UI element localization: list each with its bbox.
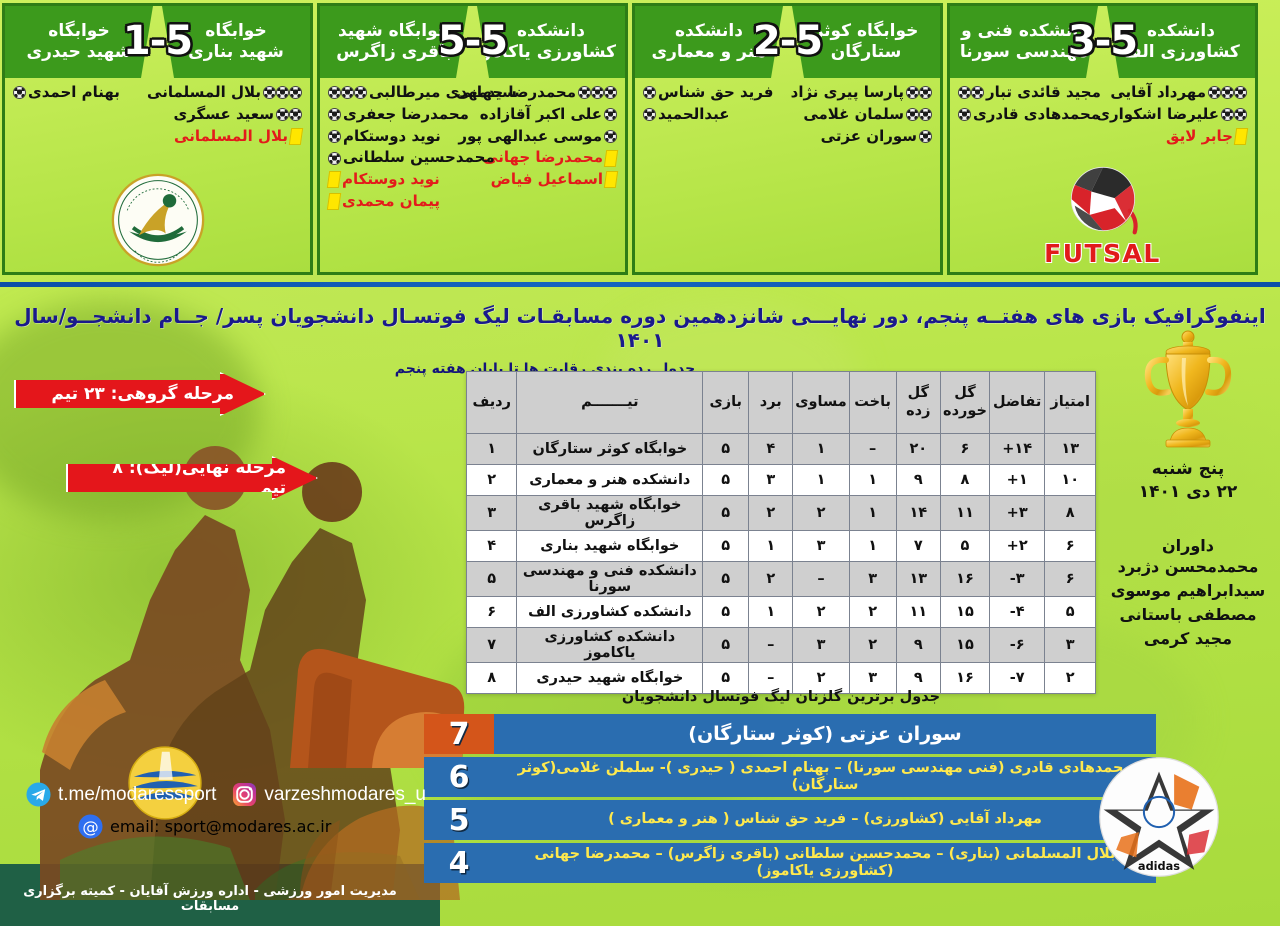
cell-points: ۸ — [1045, 496, 1096, 531]
cell-goals-for: ۱۳ — [896, 562, 940, 597]
card-entry: اسماعیل فیاض — [475, 169, 617, 191]
scorer-entry: موسی عبدالهی پور — [475, 126, 617, 148]
card-logo-area: FUTSAL — [950, 159, 1255, 268]
cell-team: دانشکده فنی و مهندسی سورنا — [517, 562, 703, 597]
cell-goals-against: ۸ — [941, 465, 990, 496]
score-badge: 3-5 — [1057, 10, 1149, 72]
instagram-contact[interactable]: varzeshmodares_u — [232, 782, 426, 807]
cell-rank: ۶ — [467, 597, 517, 628]
scorer-entry: علیرضا اشکواری — [1105, 104, 1247, 126]
away-scorers-list: فرید حق شناس عبدالحمید — [643, 82, 785, 126]
at-email-icon: @ — [78, 814, 103, 839]
soccer-ball-icon — [958, 86, 971, 99]
soccer-ball-icon — [1221, 108, 1234, 121]
cell-goals-for: ۹ — [896, 628, 940, 663]
scorer-name: سعید عسگری — [173, 104, 274, 126]
cell-played: ۵ — [703, 597, 749, 628]
scorer-entry: محمدهادی قادری — [958, 104, 1100, 126]
referees-title: داوران — [1096, 536, 1280, 555]
soccer-ball-icon — [1234, 86, 1247, 99]
scorer-goal-count: 4 — [424, 843, 494, 883]
cell-points: ۱۳ — [1045, 434, 1096, 465]
futsal-logo: FUTSAL — [1044, 159, 1161, 268]
instagram-handle: varzeshmodares_u — [264, 784, 426, 806]
scorer-name: محمدرضا جعفری — [343, 104, 469, 126]
match-card[interactable]: دانشکده کشاورزی الف 3-5 دانشکده فنی و مه… — [947, 3, 1258, 275]
cell-draws: ۳ — [793, 628, 849, 663]
scorer-entry: عبدالحمید — [643, 104, 785, 126]
svg-text:@: @ — [82, 817, 98, 836]
goal-balls — [643, 86, 656, 99]
date-full: ۲۲ دی ۱۴۰۱ — [1096, 481, 1280, 504]
cell-losses: ۱ — [849, 496, 896, 531]
goal-balls — [906, 86, 932, 99]
scorer-name: سیدمهدی میرطالبی — [369, 82, 517, 104]
footer-credit: مدیریت امور ورزشی - اداره ورزش آقایان - … — [0, 884, 420, 914]
table-row[interactable]: ۶ ۳- ۱۶ ۱۳ ۳ – ۲ ۵ دانشکده فنی و مهندسی … — [467, 562, 1096, 597]
cell-rank: ۲ — [467, 465, 517, 496]
cell-wins: ۳ — [749, 465, 793, 496]
cell-team: دانشکده کشاورزی یاکاموز — [517, 628, 703, 663]
match-body: بلال المسلمانی سعید عسگری بلال المسلمانی… — [5, 78, 310, 274]
svg-text:adidas: adidas — [1138, 859, 1180, 873]
scorer-name: سلمان غلامی — [803, 104, 904, 126]
soccer-ball-icon — [906, 86, 919, 99]
soccer-ball-icon — [13, 86, 26, 99]
goal-balls — [958, 108, 971, 121]
card-entry: پیمان محمدی — [328, 191, 470, 213]
cell-goal-diff: ۱۴+ — [989, 434, 1044, 465]
table-row[interactable]: ۵ ۴- ۱۵ ۱۱ ۲ ۲ ۱ ۵ دانشکده کشاورزی الف ۶ — [467, 597, 1096, 628]
scorer-name: محمدهادی قادری — [973, 104, 1100, 126]
scorer-name: موسی عبدالهی پور — [458, 126, 602, 148]
soccer-ball-icon — [263, 86, 276, 99]
match-body: مهرداد آقایی علیرضا اشکواری جابر لایق مج… — [950, 78, 1255, 274]
cell-team: خوابگاه شهید باقری زاگرس — [517, 496, 703, 531]
soccer-ball-icon — [919, 86, 932, 99]
away-scorers-list: مجید قائدی تبار محمدهادی قادری — [958, 82, 1100, 126]
soccer-ball-icon — [328, 86, 341, 99]
yellow-card-icon-wrap — [605, 150, 617, 167]
page-title: اینفوگرافیک بازی های هفتــه پنجم، دور نه… — [0, 304, 1280, 352]
soccer-ball-icon — [958, 108, 971, 121]
scorer-entry: مهرداد آقایی — [1105, 82, 1247, 104]
scorer-name: بهنام احمدی — [28, 82, 120, 104]
stage-banner-label: مرحله گروهی: ۲۳ تیم — [51, 384, 234, 404]
card-logo-area — [5, 172, 310, 268]
cell-goals-for: ۲۰ — [896, 434, 940, 465]
standings-table[interactable]: امتیاز تفاضل گل خورده گل زده باخت مساوی … — [466, 371, 1096, 694]
yellow-card-icon — [604, 171, 618, 188]
scorer-goal-count: 7 — [424, 714, 494, 754]
scorer-goal-count: 5 — [424, 800, 494, 840]
cell-wins: ۱ — [749, 531, 793, 562]
blue-divider-line — [0, 282, 1280, 287]
carded-player-name: نوید دوستکام — [342, 169, 440, 191]
match-card[interactable]: دانشکده کشاورزی یاکاموز 5-5 خوابگاه شهید… — [317, 3, 628, 275]
cell-wins: – — [749, 628, 793, 663]
cell-losses: ۳ — [849, 562, 896, 597]
cell-draws: ۱ — [793, 465, 849, 496]
col-goals-for: گل زده — [896, 372, 940, 434]
scorer-entry: فرید حق شناس — [643, 82, 785, 104]
cell-draws: ۲ — [793, 496, 849, 531]
score-badge: 5-5 — [427, 10, 519, 72]
top-scorers-table[interactable]: سوران عزتی (کوثر ستارگان) 7 محمدهادی قاد… — [424, 714, 1156, 883]
scorer-entry: سیدمهدی میرطالبی — [328, 82, 470, 104]
match-card[interactable]: خوابگاه شهید بناری 1-5 خوابگاه شهید حیدر… — [2, 3, 313, 275]
home-scorers-list: بلال المسلمانی سعید عسگری بلال المسلمانی — [160, 82, 302, 147]
soccer-ball-icon — [289, 108, 302, 121]
soccer-ball-icon — [919, 108, 932, 121]
scorer-entry: بلال المسلمانی — [160, 82, 302, 104]
scorer-names: محمدهادی قادری (فنی مهندسی سورنا) – بهنا… — [494, 757, 1156, 797]
cell-rank: ۳ — [467, 496, 517, 531]
cell-played: ۵ — [703, 465, 749, 496]
title-band: اینفوگرافیک بازی های هفتــه پنجم، دور نه… — [0, 282, 1280, 370]
cell-team: خوابگاه شهید بناری — [517, 531, 703, 562]
cell-draws: ۳ — [793, 531, 849, 562]
soccer-ball-icon — [604, 108, 617, 121]
goal-balls — [263, 86, 302, 99]
match-header: دانشکده کشاورزی الف 3-5 دانشکده فنی و مه… — [950, 6, 1255, 78]
cell-goals-for: ۹ — [896, 465, 940, 496]
soccer-ball-icon — [971, 86, 984, 99]
telegram-icon — [26, 782, 51, 807]
list-item[interactable]: بلال المسلمانی (بناری) – محمدحسین سلطانی… — [424, 843, 1156, 883]
cell-played: ۵ — [703, 628, 749, 663]
soccer-ball-icon — [354, 86, 367, 99]
cell-points: ۶ — [1045, 531, 1096, 562]
yellow-card-icon — [327, 171, 341, 188]
futsal-ball-icon — [1061, 159, 1145, 239]
email-address: email: sport@modares.ac.ir — [110, 817, 331, 836]
list-item[interactable]: مهرداد آقایی (کشاورزی) – فرید حق شناس ( … — [424, 800, 1156, 840]
cell-points: ۳ — [1045, 628, 1096, 663]
home-scorers-list: مهرداد آقایی علیرضا اشکواری جابر لایق — [1105, 82, 1247, 147]
goal-balls — [13, 86, 26, 99]
futsal-wordmark: FUTSAL — [1044, 239, 1161, 268]
contact-social-row: t.me/modaressport varzeshmodares_u — [26, 782, 426, 807]
match-cards-row: خوابگاه شهید بناری 1-5 خوابگاه شهید حیدر… — [0, 0, 1280, 278]
scorer-entry: سلمان غلامی — [790, 104, 932, 126]
scorer-entry: بهنام احمدی — [13, 82, 155, 104]
soccer-ball-icon — [919, 130, 932, 143]
standings-body: ۱۳ ۱۴+ ۶ ۲۰ – ۱ ۴ ۵ خوابگاه کوثر ستارگان… — [467, 434, 1096, 694]
list-item[interactable]: سوران عزتی (کوثر ستارگان) 7 — [424, 714, 1156, 754]
yellow-card-icon — [1234, 128, 1248, 145]
goal-balls — [604, 108, 617, 121]
carded-player-name: محمدرضا جهانی — [483, 147, 603, 169]
away-scorers-list: سیدمهدی میرطالبی محمدرضا جعفری نوید دوست… — [328, 82, 470, 213]
yellow-card-icon-wrap — [328, 193, 340, 210]
table-row[interactable]: ۱۰ ۱+ ۸ ۹ ۱ ۱ ۳ ۵ دانشکده هنر و معماری ۲ — [467, 465, 1096, 496]
col-losses: باخت — [849, 372, 896, 434]
soccer-ball-icon — [328, 152, 341, 165]
cell-goals-for: ۱۱ — [896, 597, 940, 628]
stage-banner-label: مرحله نهایی(لیگ): ۸ تیم — [82, 458, 286, 498]
cell-rank: ۷ — [467, 628, 517, 663]
cell-goal-diff: ۲+ — [989, 531, 1044, 562]
scorer-entry: سوران عزتی — [790, 126, 932, 148]
referee-name: محمدمحسن دژبرد — [1096, 555, 1280, 579]
yellow-card-icon-wrap — [290, 128, 302, 145]
cell-goals-for: ۱۴ — [896, 496, 940, 531]
scorer-goal-count: 6 — [424, 757, 494, 797]
col-played: بازی — [703, 372, 749, 434]
cell-losses: ۱ — [849, 465, 896, 496]
yellow-card-icon — [289, 128, 303, 145]
soccer-ball-icon — [578, 86, 591, 99]
email-contact[interactable]: @ email: sport@modares.ac.ir — [26, 814, 426, 839]
top-scorers-title: جدول برترین گلزنان لیگ فوتسال دانشجویان — [466, 689, 1096, 705]
list-item[interactable]: محمدهادی قادری (فنی مهندسی سورنا) – بهنا… — [424, 757, 1156, 797]
cell-played: ۵ — [703, 531, 749, 562]
cell-goals-against: ۱۱ — [941, 496, 990, 531]
col-wins: برد — [749, 372, 793, 434]
soccer-ball-icon — [1234, 108, 1247, 121]
cell-goal-diff: ۱+ — [989, 465, 1044, 496]
cell-losses: ۱ — [849, 531, 896, 562]
cell-draws: – — [793, 562, 849, 597]
col-team: تیـــــــم — [517, 372, 703, 434]
cell-rank: ۵ — [467, 562, 517, 597]
cell-wins: ۲ — [749, 562, 793, 597]
match-header: خوابگاه کوثر ستارگان 2-5 دانشکده هنر و م… — [635, 6, 940, 78]
soccer-ball-icon — [328, 108, 341, 121]
card-entry: محمدرضا جهانی — [475, 147, 617, 169]
col-goal-diff: تفاضل — [989, 372, 1044, 434]
col-draws: مساوی — [793, 372, 849, 434]
cell-losses: – — [849, 434, 896, 465]
col-rank: ردیف — [467, 372, 517, 434]
scorer-name: مهرداد آقایی — [1110, 82, 1206, 104]
soccer-ball-icon — [643, 86, 656, 99]
cell-goal-diff: ۶- — [989, 628, 1044, 663]
goal-balls — [328, 108, 341, 121]
cell-played: ۵ — [703, 562, 749, 597]
decor-match-ball-icon: adidas — [1096, 754, 1222, 880]
scorer-entry: محمدحسین سلطانی — [328, 147, 470, 169]
scorer-name: پارسا پیری نژاد — [791, 82, 904, 104]
event-date: پنج شنبه ۲۲ دی ۱۴۰۱ — [1096, 458, 1280, 504]
date-day: پنج شنبه — [1096, 458, 1280, 481]
soccer-ball-icon — [604, 130, 617, 143]
cell-losses: ۲ — [849, 628, 896, 663]
cell-wins: ۲ — [749, 496, 793, 531]
soccer-ball-icon — [1221, 86, 1234, 99]
home-scorers-list: پارسا پیری نژاد سلمان غلامی سوران عزتی — [790, 82, 932, 147]
goal-balls — [906, 108, 932, 121]
table-row[interactable]: ۱۳ ۱۴+ ۶ ۲۰ – ۱ ۴ ۵ خوابگاه کوثر ستارگان… — [467, 434, 1096, 465]
goal-balls — [1208, 86, 1247, 99]
card-entry: بلال المسلمانی — [160, 126, 302, 148]
cell-losses: ۲ — [849, 597, 896, 628]
soccer-ball-icon — [276, 86, 289, 99]
yellow-card-icon — [604, 150, 618, 167]
col-points: امتیاز — [1045, 372, 1096, 434]
match-card[interactable]: خوابگاه کوثر ستارگان 2-5 دانشکده هنر و م… — [632, 3, 943, 275]
cell-goal-diff: ۳+ — [989, 496, 1044, 531]
scorer-names: مهرداد آقایی (کشاورزی) – فرید حق شناس ( … — [494, 800, 1156, 840]
score-text: 5-5 — [438, 18, 507, 64]
scorer-entry: مجید قائدی تبار — [958, 82, 1100, 104]
cell-rank: ۴ — [467, 531, 517, 562]
right-info-panel: پنج شنبه ۲۲ دی ۱۴۰۱ داوران محمدمحسن دژبر… — [1096, 330, 1280, 651]
score-text: 3-5 — [1068, 18, 1137, 64]
cell-points: ۶ — [1045, 562, 1096, 597]
cell-draws: ۱ — [793, 434, 849, 465]
scorer-name: مجید قائدی تبار — [986, 82, 1101, 104]
cell-goal-diff: ۳- — [989, 562, 1044, 597]
goal-balls — [328, 130, 341, 143]
yellow-card-icon-wrap — [328, 171, 340, 188]
cell-wins: ۴ — [749, 434, 793, 465]
away-scorers-list: بهنام احمدی — [13, 82, 155, 104]
cell-team: دانشکده هنر و معماری — [517, 465, 703, 496]
soccer-ball-icon — [1208, 86, 1221, 99]
goal-balls — [643, 108, 656, 121]
cell-wins: ۱ — [749, 597, 793, 628]
soccer-ball-icon — [604, 86, 617, 99]
carded-player-name: اسماعیل فیاض — [491, 169, 603, 191]
card-entry: نوید دوستکام — [328, 169, 470, 191]
soccer-ball-icon — [591, 86, 604, 99]
carded-player-name: بلال المسلمانی — [174, 126, 288, 148]
soccer-ball-icon — [276, 108, 289, 121]
soccer-ball-icon — [341, 86, 354, 99]
scorer-names: بلال المسلمانی (بناری) – محمدحسین سلطانی… — [494, 843, 1156, 883]
cell-goals-against: ۱۵ — [941, 628, 990, 663]
match-body: محمدرضا جهانی علی اکبر آقازاده موسی عبدا… — [320, 78, 625, 274]
university-seal-icon — [110, 172, 206, 268]
yellow-card-icon — [327, 193, 341, 210]
goal-balls — [958, 86, 984, 99]
scorer-name: فرید حق شناس — [658, 82, 773, 104]
cell-played: ۵ — [703, 434, 749, 465]
cell-draws: ۲ — [793, 597, 849, 628]
goal-balls — [604, 130, 617, 143]
goal-balls — [1221, 108, 1247, 121]
scorer-names: سوران عزتی (کوثر ستارگان) — [494, 714, 1156, 754]
soccer-ball-icon — [643, 108, 656, 121]
yellow-card-icon-wrap — [605, 171, 617, 188]
match-header: خوابگاه شهید بناری 1-5 خوابگاه شهید حیدر… — [5, 6, 310, 78]
table-row[interactable]: ۳ ۶- ۱۵ ۹ ۲ ۳ – ۵ دانشکده کشاورزی یاکامو… — [467, 628, 1096, 663]
contact-block: t.me/modaressport varzeshmodares_u @ — [26, 782, 426, 839]
soccer-ball-icon — [289, 86, 302, 99]
table-row[interactable]: ۸ ۳+ ۱۱ ۱۴ ۱ ۲ ۲ ۵ خوابگاه شهید باقری زا… — [467, 496, 1096, 531]
soccer-ball-icon — [906, 108, 919, 121]
scorer-name: نوید دوستکام — [343, 126, 441, 148]
standings-header-row: امتیاز تفاضل گل خورده گل زده باخت مساوی … — [467, 372, 1096, 434]
card-entry: جابر لایق — [1105, 126, 1247, 148]
cell-rank: ۱ — [467, 434, 517, 465]
cell-points: ۱۰ — [1045, 465, 1096, 496]
cell-goals-against: ۱۵ — [941, 597, 990, 628]
soccer-ball-icon — [328, 130, 341, 143]
match-body: پارسا پیری نژاد سلمان غلامی سوران عزتی ف… — [635, 78, 940, 274]
cell-team: دانشکده کشاورزی الف — [517, 597, 703, 628]
scorer-entry: علی اکبر آقازاده — [475, 104, 617, 126]
col-goals-against: گل خورده — [941, 372, 990, 434]
scorer-name: علی اکبر آقازاده — [480, 104, 602, 126]
scorer-name: سوران عزتی — [821, 126, 917, 148]
scorer-name: محمدحسین سلطانی — [343, 147, 495, 169]
cell-goals-against: ۱۶ — [941, 562, 990, 597]
referee-name: مصطفی باستانی — [1096, 603, 1280, 627]
trophy-icon — [1136, 330, 1240, 448]
scorer-entry: نوید دوستکام — [328, 126, 470, 148]
cell-goals-for: ۷ — [896, 531, 940, 562]
score-text: 2-5 — [753, 18, 822, 64]
scorer-entry: پارسا پیری نژاد — [790, 82, 932, 104]
goal-balls — [328, 152, 341, 165]
cell-team: خوابگاه کوثر ستارگان — [517, 434, 703, 465]
cell-points: ۵ — [1045, 597, 1096, 628]
telegram-contact[interactable]: t.me/modaressport — [26, 782, 216, 807]
goal-balls — [276, 108, 302, 121]
telegram-handle: t.me/modaressport — [58, 784, 216, 806]
cell-goals-against: ۵ — [941, 531, 990, 562]
goal-balls — [578, 86, 617, 99]
instagram-icon — [232, 782, 257, 807]
scorer-name: عبدالحمید — [658, 104, 729, 126]
referee-name: مجید کرمی — [1096, 627, 1280, 651]
yellow-card-icon-wrap — [1235, 128, 1247, 145]
goal-balls — [919, 130, 932, 143]
table-row[interactable]: ۶ ۲+ ۵ ۷ ۱ ۳ ۱ ۵ خوابگاه شهید بناری ۴ — [467, 531, 1096, 562]
cell-goal-diff: ۴- — [989, 597, 1044, 628]
scorer-name: بلال المسلمانی — [147, 82, 261, 104]
referee-name: سیدابراهیم موسوی — [1096, 579, 1280, 603]
standings-head: امتیاز تفاضل گل خورده گل زده باخت مساوی … — [467, 372, 1096, 434]
score-badge: 1-5 — [112, 10, 204, 72]
carded-player-name: جابر لایق — [1166, 126, 1233, 148]
scorer-entry: سعید عسگری — [160, 104, 302, 126]
scorer-name: علیرضا اشکواری — [1096, 104, 1219, 126]
carded-player-name: پیمان محمدی — [342, 191, 440, 213]
score-text: 1-5 — [123, 18, 192, 64]
cell-goals-against: ۶ — [941, 434, 990, 465]
cell-played: ۵ — [703, 496, 749, 531]
match-header: دانشکده کشاورزی یاکاموز 5-5 خوابگاه شهید… — [320, 6, 625, 78]
score-badge: 2-5 — [742, 10, 834, 72]
goal-balls — [328, 86, 367, 99]
scorer-entry: محمدرضا جعفری — [328, 104, 470, 126]
